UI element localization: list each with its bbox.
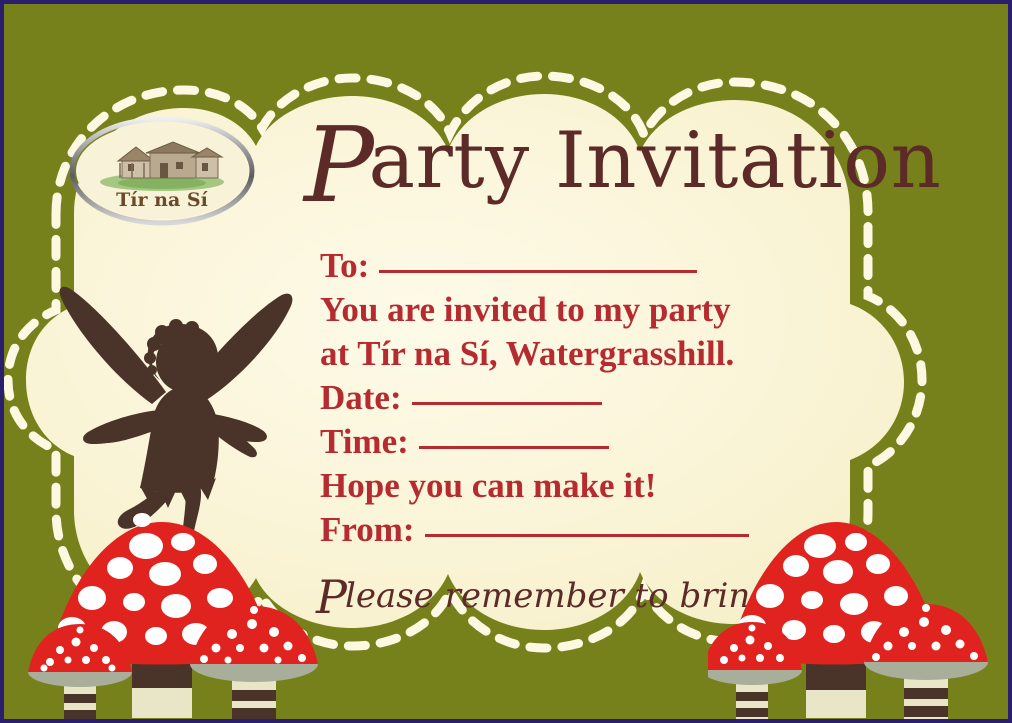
to-line: To: — [320, 244, 960, 288]
toadstool-cluster-right — [708, 496, 998, 719]
mushrooms-left-icon — [20, 502, 330, 719]
toadstool-cluster-left — [20, 502, 330, 719]
logo-wordmark: Tír na Sí — [116, 189, 208, 211]
date-line: Date: — [320, 376, 960, 420]
to-label: To: — [320, 246, 369, 285]
page-title: Party Invitation — [304, 122, 904, 202]
date-label: Date: — [320, 378, 402, 417]
to-blank-field[interactable] — [379, 270, 697, 273]
date-blank-field[interactable] — [412, 402, 602, 405]
card-content: Tír na Sí Party Invitation To: You are i… — [4, 4, 1008, 719]
time-blank-field[interactable] — [419, 446, 609, 449]
from-blank-field[interactable] — [425, 534, 749, 537]
card-mat: Tír na Sí Party Invitation To: You are i… — [4, 4, 1008, 719]
title-swash-letter: P — [304, 104, 374, 226]
invitation-card: Tír na Sí Party Invitation To: You are i… — [0, 0, 1012, 723]
invite-line-2: at Tír na Sí, Watergrasshill. — [320, 332, 960, 376]
mushrooms-right-icon — [708, 496, 998, 719]
tir-na-si-logo-icon: Tír na Sí — [70, 116, 255, 226]
brand-logo: Tír na Sí — [70, 116, 255, 226]
from-label: From: — [320, 510, 415, 549]
title-text: arty Invitation — [368, 116, 941, 206]
invite-line-1: You are invited to my party — [320, 288, 960, 332]
time-line: Time: — [320, 420, 960, 464]
time-label: Time: — [320, 422, 409, 461]
